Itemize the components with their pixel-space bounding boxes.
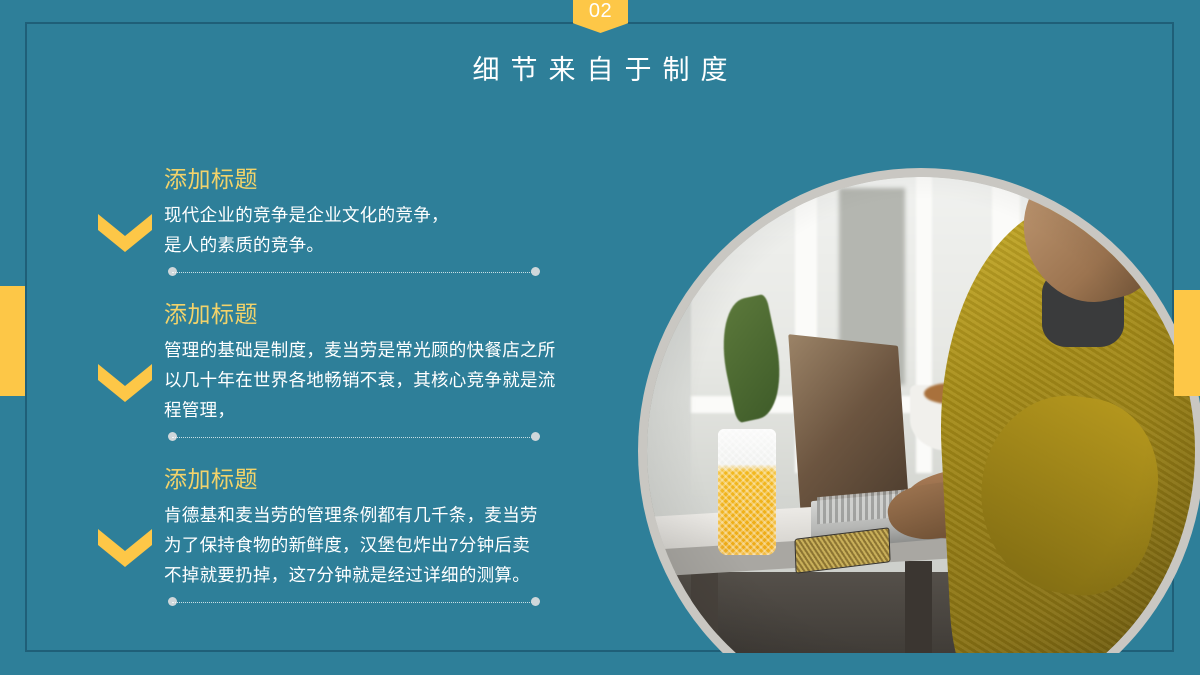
content-block-2: 添加标题 管理的基础是制度，麦当劳是常光顾的快餐店之所 以几十年在世界各地畅销不… [96, 295, 596, 442]
chevron-down-icon [96, 523, 154, 567]
right-accent-bar [1174, 290, 1200, 396]
chevron-down-icon [96, 208, 154, 252]
divider-line [172, 437, 536, 438]
section-number-text: 02 [589, 0, 612, 24]
section-number-badge: 02 [573, 0, 628, 33]
block-2-heading: 添加标题 [164, 295, 596, 329]
slide-canvas: 02 细节来自于制度 添加标题 现代企业的竞争是企业文化的竞争， 是人的素质的竞… [0, 0, 1200, 675]
page-title: 细节来自于制度 [0, 48, 1200, 87]
divider-dot-end [531, 432, 540, 441]
photo-scene [647, 177, 1195, 675]
content-block-3: 添加标题 肯德基和麦当劳的管理条例都有几千条，麦当劳 为了保持食物的新鲜度，汉堡… [96, 460, 596, 607]
divider-line [172, 272, 536, 273]
divider-dot-end [531, 267, 540, 276]
content-column: 添加标题 现代企业的竞争是企业文化的竞争， 是人的素质的竞争。 添加标题 [96, 160, 596, 625]
chevron-down-icon [96, 358, 154, 402]
block-1-heading: 添加标题 [164, 160, 596, 194]
divider-line [172, 602, 536, 603]
divider-dot-end [531, 597, 540, 606]
block-1-body: 现代企业的竞争是企业文化的竞争， 是人的素质的竞争。 [164, 200, 449, 260]
photo-bottom-crop [600, 653, 1200, 675]
block-3-body: 肯德基和麦当劳的管理条例都有几千条，麦当劳 为了保持食物的新鲜度，汉堡包炸出7分… [164, 500, 538, 590]
circular-photo-frame [638, 168, 1200, 675]
circular-photo-image [647, 177, 1195, 675]
left-accent-bar [0, 286, 25, 396]
content-block-1: 添加标题 现代企业的竞争是企业文化的竞争， 是人的素质的竞争。 [96, 160, 596, 277]
block-3-divider [168, 597, 540, 607]
block-2-body: 管理的基础是制度，麦当劳是常光顾的快餐店之所 以几十年在世界各地畅销不衰，其核心… [164, 335, 556, 425]
block-1-divider [168, 267, 540, 277]
block-2-divider [168, 432, 540, 442]
block-3-heading: 添加标题 [164, 460, 596, 494]
